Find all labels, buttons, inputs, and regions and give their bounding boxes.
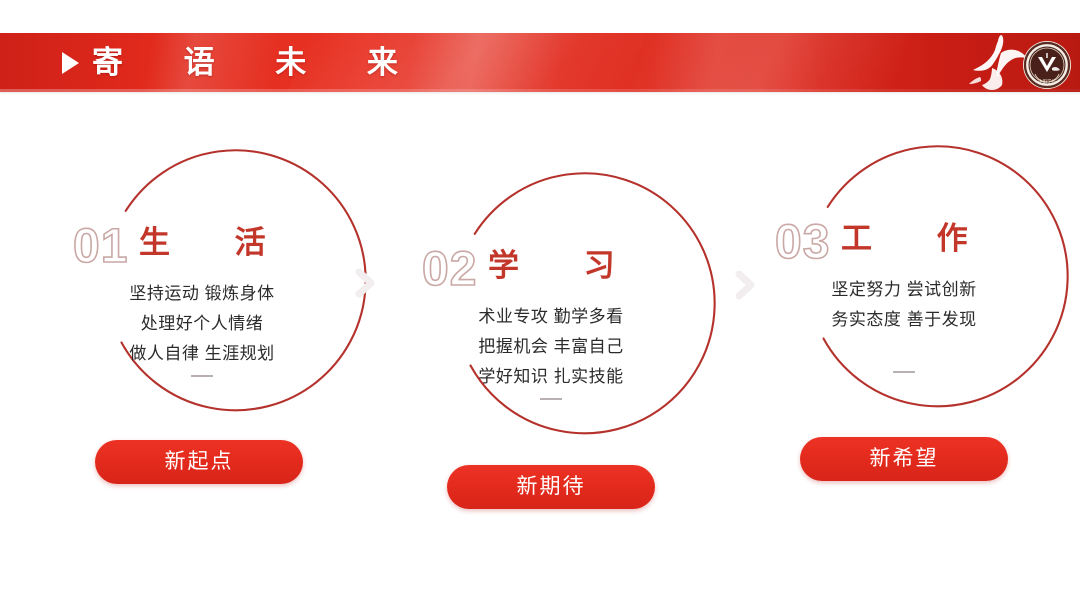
pill-button-01[interactable]: 新起点: [95, 440, 303, 484]
slide-canvas: 寄 语 未 来 中职学校 01 生 活 坚持运动 锻炼身体 处理好个人情绪 做人…: [0, 0, 1080, 600]
card-lines-03: 坚定努力 尝试创新 务实态度 善于发现: [771, 275, 1037, 373]
play-triangle-icon: [62, 52, 79, 74]
card-02[interactable]: 02 学 习 术业专攻 勤学多看 把握机会 丰富自己 学好知识 扎实技能: [418, 190, 684, 456]
card-title-03: 工 作: [841, 223, 996, 254]
card-lines-02: 术业专攻 勤学多看 把握机会 丰富自己 学好知识 扎实技能: [418, 302, 684, 400]
card-line: 术业专攻 勤学多看: [418, 302, 684, 332]
card-line: 坚持运动 锻炼身体: [69, 279, 335, 309]
card-number-02: 02: [422, 246, 477, 294]
card-divider: [191, 375, 213, 377]
card-line: 做人自律 生涯规划: [69, 339, 335, 369]
card-title-02: 学 习: [488, 250, 643, 281]
pill-button-02[interactable]: 新期待: [447, 465, 655, 509]
card-line: 把握机会 丰富自己: [418, 332, 684, 362]
card-line: 坚定努力 尝试创新: [771, 275, 1037, 305]
svg-text:中职学校: 中职学校: [1038, 78, 1056, 85]
card-divider: [540, 398, 562, 400]
card-number-03: 03: [775, 219, 830, 267]
header-sheen-right: [629, 33, 910, 92]
card-title-01: 生 活: [139, 227, 294, 258]
page-title: 寄 语 未 来: [92, 43, 424, 83]
header-underline: [0, 89, 1080, 92]
chevron-right-icon: [732, 270, 758, 300]
card-lines-01: 坚持运动 锻炼身体 处理好个人情绪 做人自律 生涯规划: [69, 279, 335, 377]
card-01[interactable]: 01 生 活 坚持运动 锻炼身体 处理好个人情绪 做人自律 生涯规划: [69, 167, 335, 433]
card-line: 务实态度 善于发现: [771, 305, 1037, 335]
card-number-01: 01: [73, 223, 128, 271]
card-line: 处理好个人情绪: [69, 309, 335, 339]
card-divider: [893, 371, 915, 373]
chevron-right-icon: [352, 268, 378, 298]
school-emblem-icon: 中职学校: [1022, 40, 1072, 90]
card-03[interactable]: 03 工 作 坚定努力 尝试创新 务实态度 善于发现: [771, 163, 1037, 429]
card-line: 学好知识 扎实技能: [418, 362, 684, 392]
pill-button-03[interactable]: 新希望: [800, 437, 1008, 481]
